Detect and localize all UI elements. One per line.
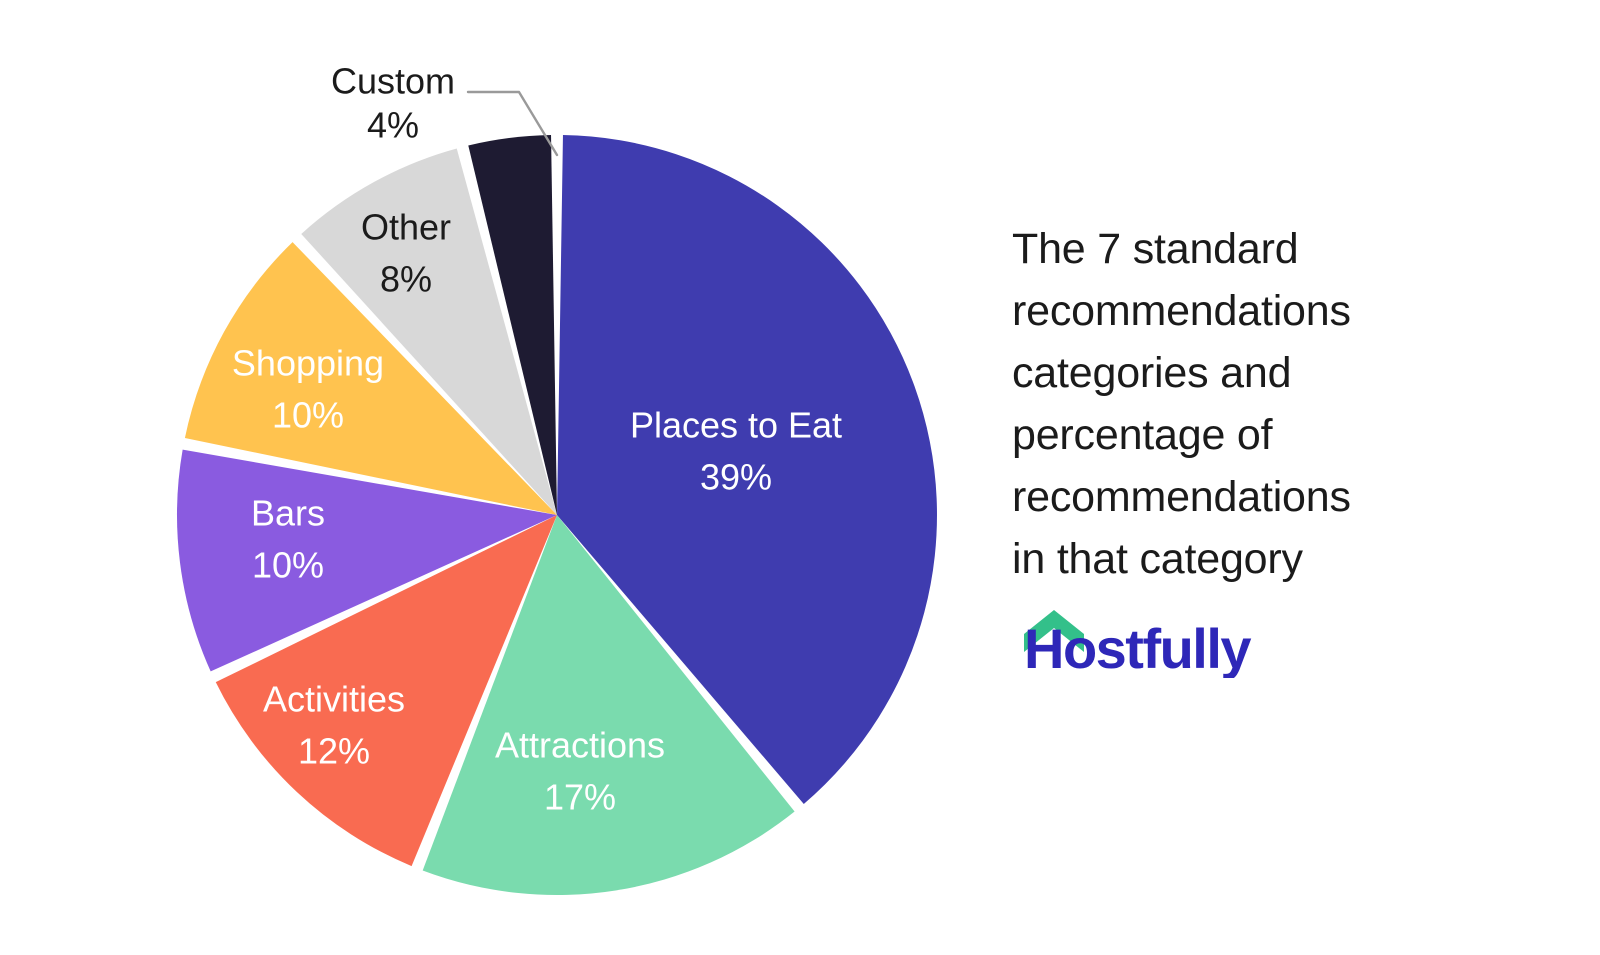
hostfully-logo: Hostfully	[1010, 598, 1310, 678]
pie-chart-svg: Places to Eat 39% Attractions 17% Activi…	[0, 0, 990, 955]
slice-label-shopping-value: 10%	[272, 395, 344, 436]
slice-label-other-value: 8%	[380, 259, 432, 300]
slice-label-places-to-eat-value: 39%	[700, 457, 772, 498]
pie-chart-infographic: Places to Eat 39% Attractions 17% Activi…	[0, 0, 1600, 955]
slice-label-attractions-name: Attractions	[495, 725, 665, 766]
pie-chart-area: Places to Eat 39% Attractions 17% Activi…	[0, 0, 990, 955]
hostfully-logo-svg: Hostfully	[1010, 598, 1310, 678]
caption-text: The 7 standard recommendations categorie…	[1012, 218, 1482, 590]
slice-label-shopping-name: Shopping	[232, 343, 384, 384]
hostfully-wordmark: Hostfully	[1024, 617, 1251, 678]
caption-block: The 7 standard recommendations categorie…	[1012, 218, 1482, 590]
slice-label-attractions-value: 17%	[544, 777, 616, 818]
slice-label-activities-name: Activities	[263, 679, 405, 720]
slice-label-bars-name: Bars	[251, 493, 325, 534]
slice-label-custom-name: Custom	[331, 61, 455, 102]
slice-label-activities-value: 12%	[298, 731, 370, 772]
slice-label-bars-value: 10%	[252, 545, 324, 586]
slice-label-other-name: Other	[361, 207, 451, 248]
slice-label-custom-value: 4%	[367, 105, 419, 146]
slice-label-places-to-eat-name: Places to Eat	[630, 405, 842, 446]
slice-label-custom: Custom 4%	[331, 61, 455, 146]
